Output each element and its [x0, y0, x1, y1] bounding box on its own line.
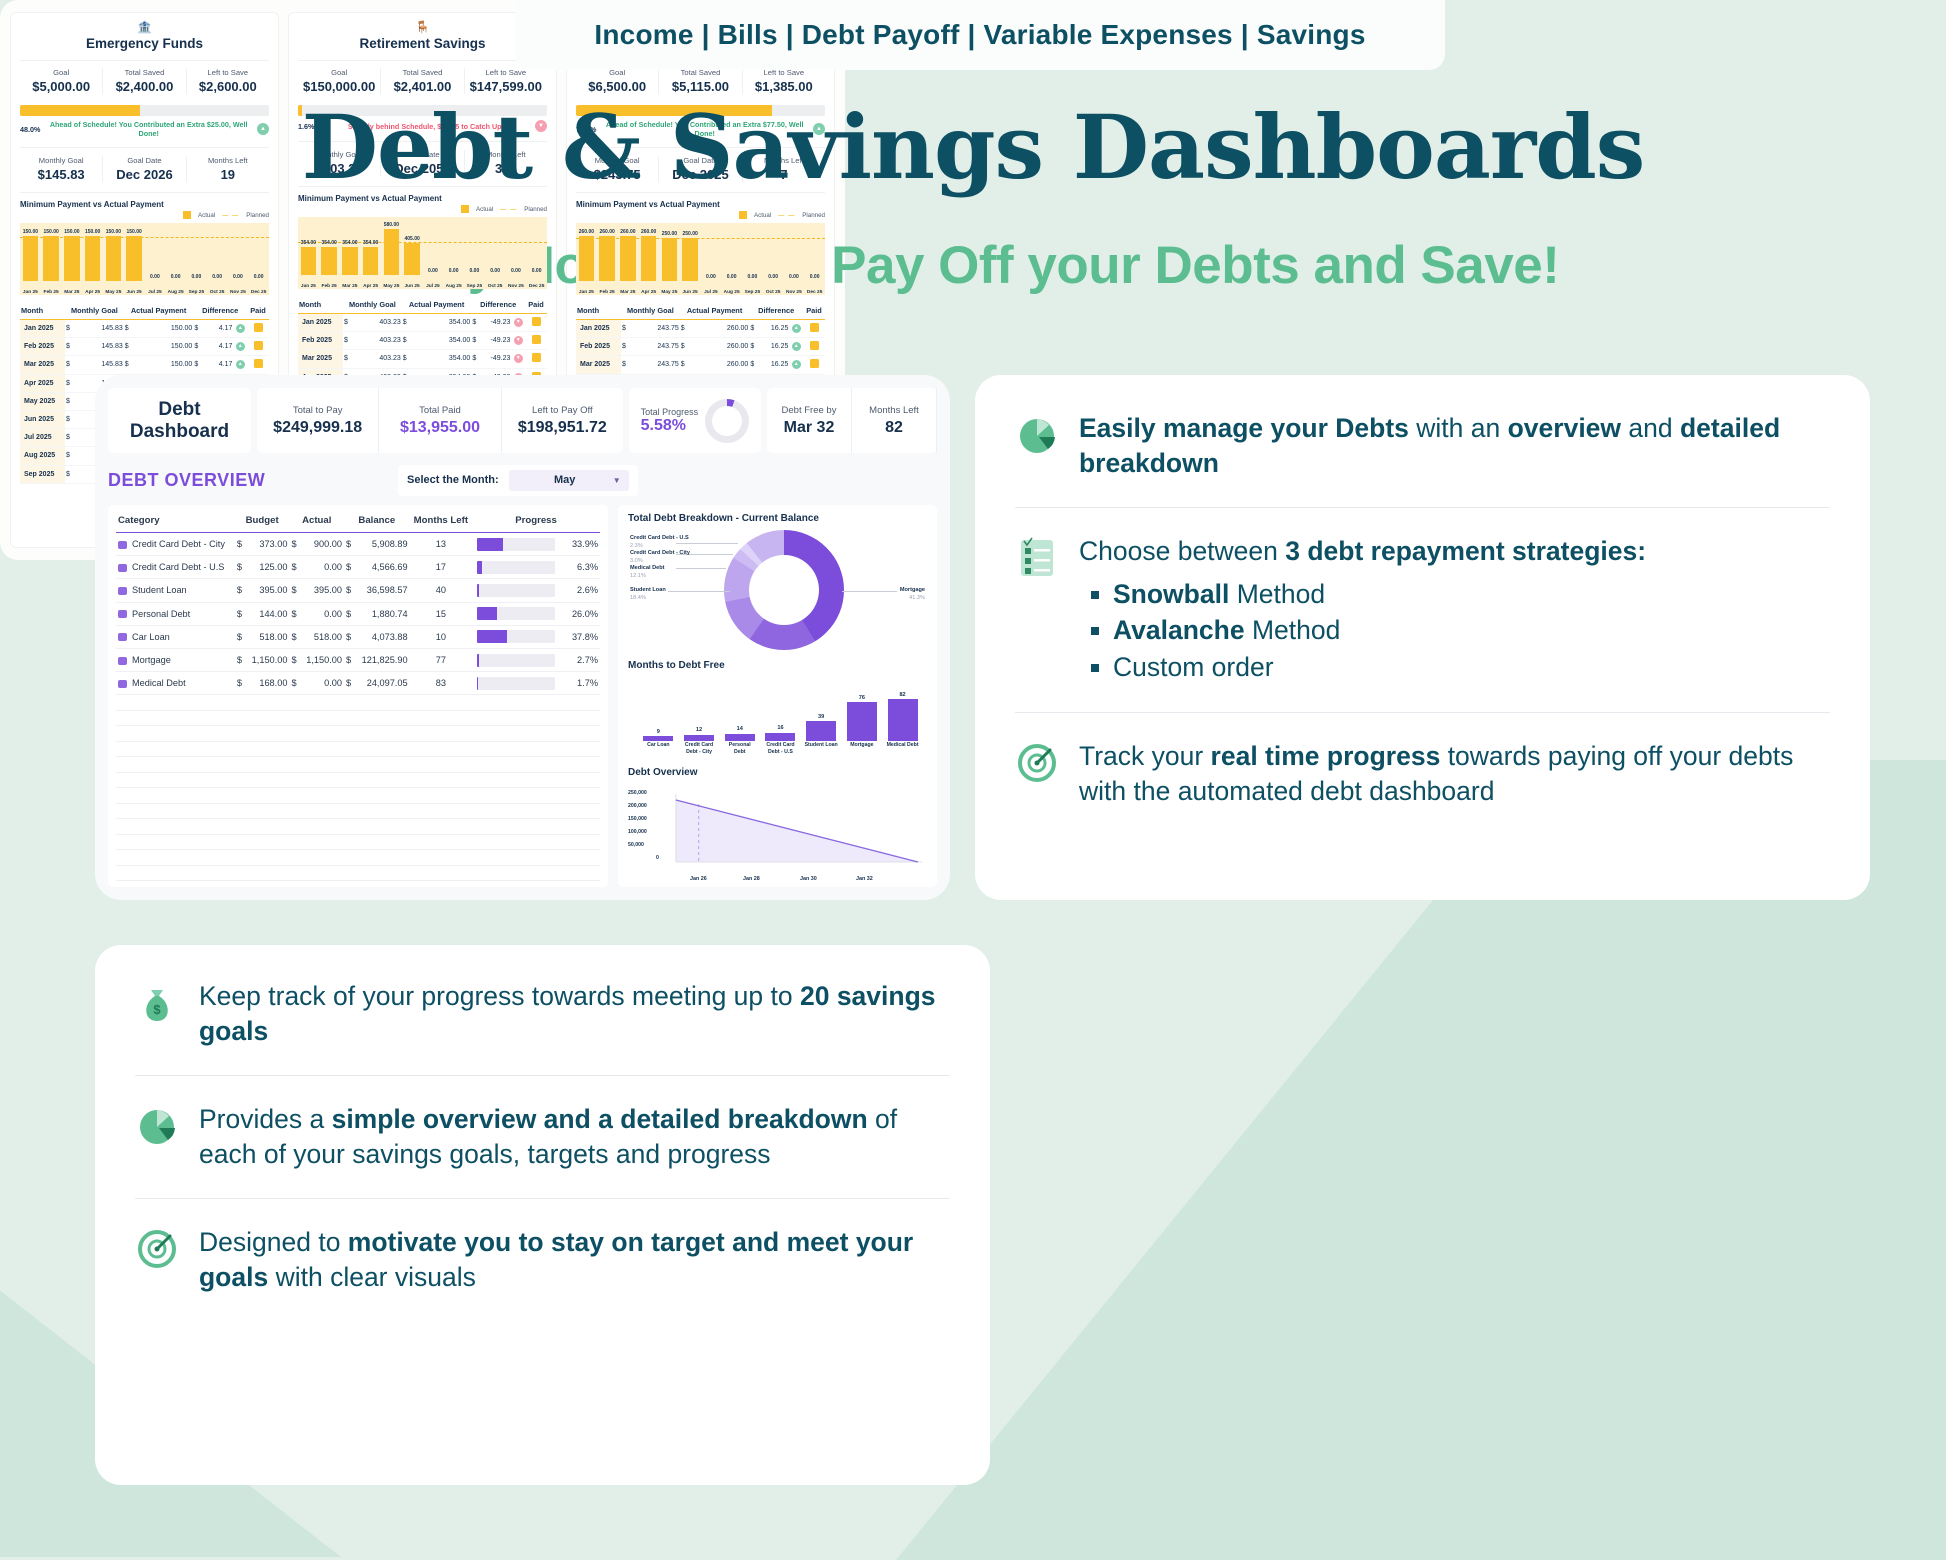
- chart-xtick: Feb 25: [597, 290, 618, 295]
- bar-rect: [301, 247, 316, 275]
- cell-actual: 1,150.00: [301, 648, 344, 671]
- target-icon: [1015, 741, 1059, 785]
- chart-xtick: Jul 25: [423, 284, 444, 289]
- bar-value: 0.00: [212, 274, 222, 280]
- cell-month: Jul 2025: [20, 429, 65, 447]
- th-months-left: Months Left: [410, 511, 473, 533]
- cell-month: Mar 2025: [20, 356, 65, 374]
- kpi-label: Left to Pay Off: [532, 405, 593, 416]
- table-row: Mar 2025$145.83$150.00$4.17▲: [20, 356, 269, 374]
- bar-column: 250.00: [680, 223, 701, 281]
- bar-value: 150.00: [126, 229, 141, 235]
- th-actual-payment: Actual Payment: [402, 297, 472, 314]
- chart-xtick: Mar 25: [340, 284, 361, 289]
- cell-balance: 36,598.57: [356, 579, 410, 602]
- th-month: Month: [20, 303, 65, 320]
- bar-column: 12: [684, 727, 714, 741]
- cell-budget: 144.00: [247, 602, 290, 625]
- line-ytick: 150,000: [628, 816, 647, 822]
- bar-value: 0.00: [511, 268, 521, 274]
- debt-overview-line-chart: 250,000 200,000 150,000 100,000 50,000 0…: [628, 782, 927, 882]
- bar-rect: [321, 247, 336, 275]
- chart-xtick: Jul 25: [701, 290, 722, 295]
- debt-table-pane: Category Budget Actual Balance Months Le…: [108, 505, 608, 887]
- savings-features-card: $ Keep track of your progress towards me…: [95, 945, 990, 1485]
- bar-column: 250.00: [659, 223, 680, 281]
- cell-actual: 0.00: [301, 556, 344, 579]
- bar-rect: [23, 236, 38, 281]
- kpi-value: 5.58%: [641, 417, 686, 435]
- arrow-down-icon: ▼: [514, 318, 523, 327]
- pie-chart-icon: [135, 1104, 179, 1148]
- cell-months-left: 40: [410, 579, 473, 602]
- bar-rect: [85, 236, 100, 281]
- kpi-left-to-pay-off: Left to Pay Off $198,951.72: [502, 388, 623, 453]
- goal-kpi: Left to Save$147,599.00: [465, 68, 547, 94]
- chart-xtick: Nov 25: [506, 284, 527, 289]
- bar-column: 0.00: [443, 217, 464, 275]
- table-row: Credit Card Debt - U.S$125.00$0.00$4,566…: [116, 556, 600, 579]
- cell-difference: -49.23: [479, 332, 511, 350]
- kpi-value: 82: [885, 419, 903, 437]
- divider: [1015, 712, 1830, 713]
- bar-column: 354.00: [298, 217, 319, 275]
- chart-xtick: Oct 25: [207, 290, 228, 295]
- strategy-list-item: Avalanche Method: [1079, 612, 1646, 649]
- bar-column: 0.00: [207, 223, 228, 281]
- bar-rect: [126, 236, 141, 281]
- debt-charts-pane: Total Debt Breakdown - Current Balance C…: [618, 505, 937, 887]
- cell-actual-payment: 354.00: [410, 314, 472, 332]
- chart-xtick: Jan 25: [20, 290, 41, 295]
- goal-kpi: Left to Save$2,600.00: [187, 68, 269, 94]
- bar-category-label: Credit Card Debt - City: [682, 742, 716, 763]
- cell-budget: 125.00: [247, 556, 290, 579]
- th-month: Month: [576, 303, 621, 320]
- line-ytick: 250,000: [628, 790, 647, 796]
- cell-category: Mortgage: [116, 648, 235, 671]
- chart-xtick: Nov 25: [784, 290, 805, 295]
- paid-checkbox[interactable]: [810, 323, 819, 332]
- kpi-label: Total Saved: [381, 68, 463, 77]
- strategy-list-item: Custom order: [1079, 649, 1646, 686]
- cell-budget: 373.00: [247, 533, 290, 556]
- arrow-down-icon: ▼: [514, 354, 523, 363]
- feature-text-block: Choose between 3 debt repayment strategi…: [1079, 534, 1646, 686]
- page-subtitle: Stay Motivated to Pay Off your Debts and…: [0, 235, 1946, 296]
- feature-text: Designed to motivate you to stay on targ…: [199, 1225, 950, 1295]
- cell-paid[interactable]: [803, 356, 825, 374]
- kpi-value: $1,385.00: [743, 79, 825, 94]
- bar-value: 0.00: [768, 274, 778, 280]
- chart-xtick: Jun 25: [402, 284, 423, 289]
- cell-month: Jan 2025: [298, 314, 343, 332]
- table-row-empty: [116, 757, 600, 773]
- category-swatch-icon: [118, 610, 127, 618]
- table-row-empty: [116, 695, 600, 711]
- cell-monthly-goal: 403.23: [351, 332, 402, 350]
- bar-rect: [765, 733, 795, 741]
- goal-kpi: Total Saved$5,115.00: [659, 68, 742, 94]
- category-swatch-icon: [118, 633, 127, 641]
- table-header-row: MonthMonthly GoalActual PaymentDifferenc…: [20, 303, 269, 320]
- bar-rect: [682, 238, 697, 281]
- kpi-value: $6,500.00: [576, 79, 658, 94]
- cell-actual-payment: 354.00: [410, 332, 472, 350]
- goal-kpi: Total Saved$2,400.00: [103, 68, 186, 94]
- cell-paid[interactable]: [247, 356, 269, 374]
- kpi-label: Left to Save: [187, 68, 269, 77]
- line-xtick: Jan 26: [690, 876, 707, 882]
- table-row: Jan 2025$145.83$150.00$4.17▲: [20, 320, 269, 338]
- cell-paid[interactable]: [525, 332, 547, 350]
- cell-actual-payment: 260.00: [688, 356, 750, 374]
- bar-value: 0.00: [192, 274, 202, 280]
- paid-checkbox[interactable]: [810, 341, 819, 350]
- bar-rect: [620, 236, 635, 281]
- chart-xtick: Jul 25: [145, 290, 166, 295]
- legend-label-actual: Actual: [476, 206, 493, 213]
- line-xtick: Jan 28: [743, 876, 760, 882]
- legend-label-planned: Planned: [802, 212, 825, 219]
- chart-xtick: Feb 25: [319, 284, 340, 289]
- cell-category: Medical Debt: [116, 672, 235, 695]
- cell-category: Personal Debt: [116, 602, 235, 625]
- bar-column: 14: [725, 726, 755, 741]
- strategy-list-item: Snowball Method: [1079, 576, 1646, 613]
- cell-difference: 4.17: [201, 338, 233, 356]
- bar-value: 0.00: [254, 274, 264, 280]
- goal-title: Retirement Savings: [298, 36, 547, 51]
- cell-months-left: 17: [410, 556, 473, 579]
- bar-column: 150.00: [62, 223, 83, 281]
- donut-label-credit-card-us: Credit Card Debt - U.S 2.3%: [630, 534, 689, 550]
- kpi-months-left: Months Left 82: [852, 388, 937, 453]
- debt-overview-heading: DEBT OVERVIEW: [108, 470, 398, 491]
- chart-xtick: Jan 25: [298, 284, 319, 289]
- bar-column: 39: [806, 714, 836, 741]
- bar-column: 0.00: [248, 223, 269, 281]
- bar-value: 150.00: [106, 229, 121, 235]
- paid-checkbox[interactable]: [810, 359, 819, 368]
- debt-free-group: Debt Free by Mar 32 Months Left 82: [767, 388, 937, 453]
- legend-dash-planned: — —: [778, 212, 795, 219]
- bar-category-label: Medical Debt: [886, 742, 920, 763]
- table-row: Medical Debt$168.00$0.00$24,097.05831.7%: [116, 672, 600, 695]
- table-row-empty: [116, 850, 600, 866]
- chart-xtick: Aug 25: [165, 290, 186, 295]
- category-swatch-icon: [118, 541, 127, 549]
- bar-column: 150.00: [82, 223, 103, 281]
- bar-column: 0.00: [721, 223, 742, 281]
- payment-chart-title: Minimum Payment vs Actual Payment: [576, 200, 825, 209]
- table-row-empty: [116, 803, 600, 819]
- cell-balance: 24,097.05: [356, 672, 410, 695]
- goal-kpi-row: Goal$5,000.00Total Saved$2,400.00Left to…: [20, 60, 269, 94]
- cell-budget: 168.00: [247, 672, 290, 695]
- kpi-label: Total Saved: [103, 68, 185, 77]
- table-row-empty: [116, 741, 600, 757]
- donut-ring: [724, 530, 844, 650]
- feature-item: Track your real time progress towards pa…: [1015, 739, 1830, 809]
- line-ytick: 100,000: [628, 829, 647, 835]
- arrow-down-icon: ▼: [514, 336, 523, 345]
- bar-value: 0.00: [490, 268, 500, 274]
- goal-title: Emergency Funds: [20, 36, 269, 51]
- chart-xtick: Sep 25: [464, 284, 485, 289]
- cell-progress-bar: [472, 602, 560, 625]
- cell-progress-pct: 1.7%: [560, 672, 600, 695]
- payment-chart-plot: 150.00150.00150.00150.00150.00150.000.00…: [20, 223, 269, 295]
- feature-item: Easily manage your Debts with an overvie…: [1015, 411, 1830, 481]
- th-actual-payment: Actual Payment: [680, 303, 750, 320]
- donut-label-student-loan: Student Loan 18.4%: [630, 586, 666, 602]
- paid-checkbox[interactable]: [254, 323, 263, 332]
- kpi-value: $13,955.00: [400, 419, 480, 437]
- bar-value: 150.00: [85, 229, 100, 235]
- cell-progress-pct: 37.8%: [560, 625, 600, 648]
- feature-text: Easily manage your Debts with an overvie…: [1079, 411, 1830, 481]
- cell-progress-bar: [472, 625, 560, 648]
- cell-month: Mar 2025: [298, 350, 343, 368]
- chart-xtick: Dec 25: [526, 284, 547, 289]
- bar-category-label: Mortgage: [845, 742, 879, 763]
- bar-value: 354.00: [342, 240, 357, 246]
- debt-dashboard-title: Debt Dashboard: [108, 388, 251, 453]
- cell-difference: 4.17: [201, 356, 233, 374]
- cell-progress-pct: 2.6%: [560, 579, 600, 602]
- kpi-value: $5,000.00: [20, 79, 102, 94]
- cell-paid[interactable]: [525, 314, 547, 332]
- debt-kpi-group: Total to Pay $249,999.18 Total Paid $13,…: [257, 388, 623, 453]
- bar-value: 580.00: [384, 222, 399, 228]
- cell-paid[interactable]: [247, 320, 269, 338]
- bar-value: 354.00: [301, 240, 316, 246]
- feature-text: Provides a simple overview and a detaile…: [199, 1102, 950, 1172]
- bar-column: 0.00: [804, 223, 825, 281]
- cell-month: Aug 2025: [20, 447, 65, 465]
- bar-value: 260.00: [620, 229, 635, 235]
- legend-dash-planned: — —: [222, 212, 239, 219]
- cell-budget: 1,150.00: [247, 648, 290, 671]
- cell-monthly-goal: 243.75: [629, 356, 680, 374]
- feature-item: Designed to motivate you to stay on targ…: [135, 1225, 950, 1295]
- goal-kpi-row: Goal$150,000.00Total Saved$2,401.00Left …: [298, 60, 547, 94]
- month-select-label: Select the Month:: [407, 474, 499, 486]
- cell-budget: 518.00: [247, 625, 290, 648]
- bar-chart-title: Months to Debt Free: [628, 660, 927, 671]
- debt-overview-bar: DEBT OVERVIEW Select the Month: May ▼: [108, 459, 937, 501]
- bar-value: 16: [777, 725, 783, 731]
- debt-dashboard-screenshot: Debt Dashboard Total to Pay $249,999.18 …: [95, 375, 950, 900]
- months-to-debt-free-chart: 9121416397682 Car LoanCredit Card Debt -…: [628, 675, 927, 763]
- cell-actual-payment: 260.00: [688, 338, 750, 356]
- legend-label-actual: Actual: [198, 212, 215, 219]
- table-row-empty: [116, 834, 600, 850]
- payment-chart: Minimum Payment vs Actual PaymentActual—…: [298, 186, 547, 289]
- cell-months-left: 15: [410, 602, 473, 625]
- cell-progress-bar: [472, 533, 560, 556]
- chart-xtick: Aug 25: [443, 284, 464, 289]
- cell-monthly-goal: 145.83: [73, 320, 124, 338]
- legend-swatch-actual: [739, 211, 747, 219]
- th-difference: Difference: [193, 303, 247, 320]
- paid-checkbox[interactable]: [532, 353, 541, 362]
- cell-actual-payment: 260.00: [688, 320, 750, 338]
- bar-column: 0.00: [423, 217, 444, 275]
- bar-column: 0.00: [485, 217, 506, 275]
- cell-months-left: 13: [410, 533, 473, 556]
- chart-xtick: Apr 25: [82, 290, 103, 295]
- bar-column: 150.00: [103, 223, 124, 281]
- bar-value: 76: [859, 695, 865, 701]
- bar-column: 0.00: [145, 223, 166, 281]
- cell-paid[interactable]: [803, 320, 825, 338]
- kpi-label: Debt Free by: [782, 405, 837, 416]
- cell-difference: -49.23: [479, 350, 511, 368]
- chart-xtick: Sep 25: [186, 290, 207, 295]
- bar-column: 0.00: [186, 223, 207, 281]
- kpi-label: Goal: [298, 68, 380, 77]
- table-row-empty: [116, 710, 600, 726]
- chart-xtick: Mar 25: [618, 290, 639, 295]
- th-budget: Budget: [235, 511, 290, 533]
- progress-ring-icon: [705, 399, 749, 443]
- cell-category: Credit Card Debt - U.S: [116, 556, 235, 579]
- bar-rect: [725, 734, 755, 741]
- th-balance: Balance: [344, 511, 410, 533]
- cell-progress-bar: [472, 648, 560, 671]
- kpi-label: Goal: [20, 68, 102, 77]
- arrow-up-icon: ▲: [792, 342, 801, 351]
- chart-xtick: Feb 25: [41, 290, 62, 295]
- cell-progress-bar: [472, 579, 560, 602]
- th-paid: Paid: [525, 297, 547, 314]
- bar-value: 150.00: [23, 229, 38, 235]
- table-row: Feb 2025$243.75$260.00$16.25▲: [576, 338, 825, 356]
- checklist-icon: [1015, 536, 1059, 580]
- cell-paid[interactable]: [525, 350, 547, 368]
- cell-month: Feb 2025: [576, 338, 621, 356]
- kpi-value: $5,115.00: [659, 79, 741, 94]
- divider: [135, 1075, 950, 1076]
- cell-monthly-goal: 243.75: [629, 338, 680, 356]
- bar-value: 150.00: [43, 229, 58, 235]
- bar-category-label: Credit Card Debt - U.S: [763, 742, 797, 763]
- cell-progress-pct: 33.9%: [560, 533, 600, 556]
- th-monthly-goal: Monthly Goal: [65, 303, 124, 320]
- debt-title-line1: Debt: [158, 399, 200, 421]
- bar-value: 250.00: [662, 231, 677, 237]
- money-bag-icon: $: [135, 981, 179, 1025]
- bar-column: 0.00: [701, 223, 722, 281]
- bar-column: 0.00: [526, 217, 547, 275]
- header-pill-text: Income | Bills | Debt Payoff | Variable …: [594, 19, 1365, 51]
- cell-progress-bar: [472, 556, 560, 579]
- feature-text: Track your real time progress towards pa…: [1079, 739, 1830, 809]
- table-row: Jan 2025$243.75$260.00$16.25▲: [576, 320, 825, 338]
- payment-chart-plot: 354.00354.00354.00354.00580.00405.000.00…: [298, 217, 547, 289]
- cell-progress-bar: [472, 672, 560, 695]
- cell-progress-pct: 2.7%: [560, 648, 600, 671]
- table-header-row: MonthMonthly GoalActual PaymentDifferenc…: [298, 297, 547, 314]
- paid-checkbox[interactable]: [254, 341, 263, 350]
- bar-value: 354.00: [363, 240, 378, 246]
- svg-text:$: $: [153, 1002, 161, 1017]
- paid-checkbox[interactable]: [532, 317, 541, 326]
- bar-value: 260.00: [579, 229, 594, 235]
- donut-label-medical-debt: Medical Debt 12.1%: [630, 564, 665, 580]
- month-select-dropdown[interactable]: May ▼: [509, 470, 629, 491]
- table-row-empty: [116, 788, 600, 804]
- cell-paid[interactable]: [803, 338, 825, 356]
- category-swatch-icon: [118, 587, 127, 595]
- paid-checkbox[interactable]: [532, 335, 541, 344]
- chart-xtick: Nov 25: [228, 290, 249, 295]
- divider: [1015, 507, 1830, 508]
- th-progress: Progress: [472, 511, 600, 533]
- cell-month: Jun 2025: [20, 410, 65, 428]
- th-paid: Paid: [247, 303, 269, 320]
- chart-xtick: Aug 25: [721, 290, 742, 295]
- donut-chart-title: Total Debt Breakdown - Current Balance: [628, 513, 927, 524]
- arrow-up-icon: ▲: [236, 324, 245, 333]
- chart-xtick: Mar 25: [62, 290, 83, 295]
- goal-kpi: Goal$6,500.00: [576, 68, 659, 94]
- kpi-value: Mar 32: [784, 419, 835, 437]
- bar-value: 354.00: [321, 240, 336, 246]
- kpi-debt-free-by: Debt Free by Mar 32: [767, 388, 852, 453]
- chart-legend: Actual— —Planned: [298, 205, 547, 213]
- line-chart-svg: [628, 782, 927, 882]
- paid-checkbox[interactable]: [254, 359, 263, 368]
- cell-monthly-goal: 403.23: [351, 314, 402, 332]
- legend-label-actual: Actual: [754, 212, 771, 219]
- donut-chart: Credit Card Debt - U.S 2.3% Credit Card …: [628, 526, 927, 654]
- feature-item: Choose between 3 debt repayment strategi…: [1015, 534, 1830, 686]
- kpi-label: Total to Pay: [293, 405, 343, 416]
- bar-value: 0.00: [428, 268, 438, 274]
- bar-value: 82: [899, 692, 905, 698]
- debt-overview-table: Category Budget Actual Balance Months Le…: [116, 511, 600, 881]
- bar-value: 250.00: [682, 231, 697, 237]
- cell-actual: 0.00: [301, 602, 344, 625]
- line-chart-title: Debt Overview: [628, 767, 927, 778]
- bar-column: 150.00: [124, 223, 145, 281]
- cell-paid[interactable]: [247, 338, 269, 356]
- cell-balance: 121,825.90: [356, 648, 410, 671]
- cell-difference: 16.25: [757, 356, 789, 374]
- th-monthly-goal: Monthly Goal: [621, 303, 680, 320]
- bar-column: 0.00: [763, 223, 784, 281]
- table-row: Mortgage$1,150.00$1,150.00$121,825.90772…: [116, 648, 600, 671]
- bar-column: 354.00: [360, 217, 381, 275]
- cell-actual-payment: 354.00: [410, 350, 472, 368]
- bar-column: 354.00: [340, 217, 361, 275]
- cell-actual-payment: 150.00: [132, 356, 194, 374]
- page-title: Debt & Savings Dashboards: [0, 95, 1946, 199]
- divider: [135, 1198, 950, 1199]
- bar-value: 0.00: [470, 268, 480, 274]
- cell-actual: 900.00: [301, 533, 344, 556]
- line-xtick: Jan 32: [856, 876, 873, 882]
- table-row: Student Loan$395.00$395.00$36,598.57402.…: [116, 579, 600, 602]
- th-month: Month: [298, 297, 343, 314]
- kpi-total-progress: Total Progress 5.58%: [629, 388, 761, 453]
- bar-rect: [662, 238, 677, 281]
- cell-actual: 518.00: [301, 625, 344, 648]
- header-pill: Income | Bills | Debt Payoff | Variable …: [515, 0, 1445, 70]
